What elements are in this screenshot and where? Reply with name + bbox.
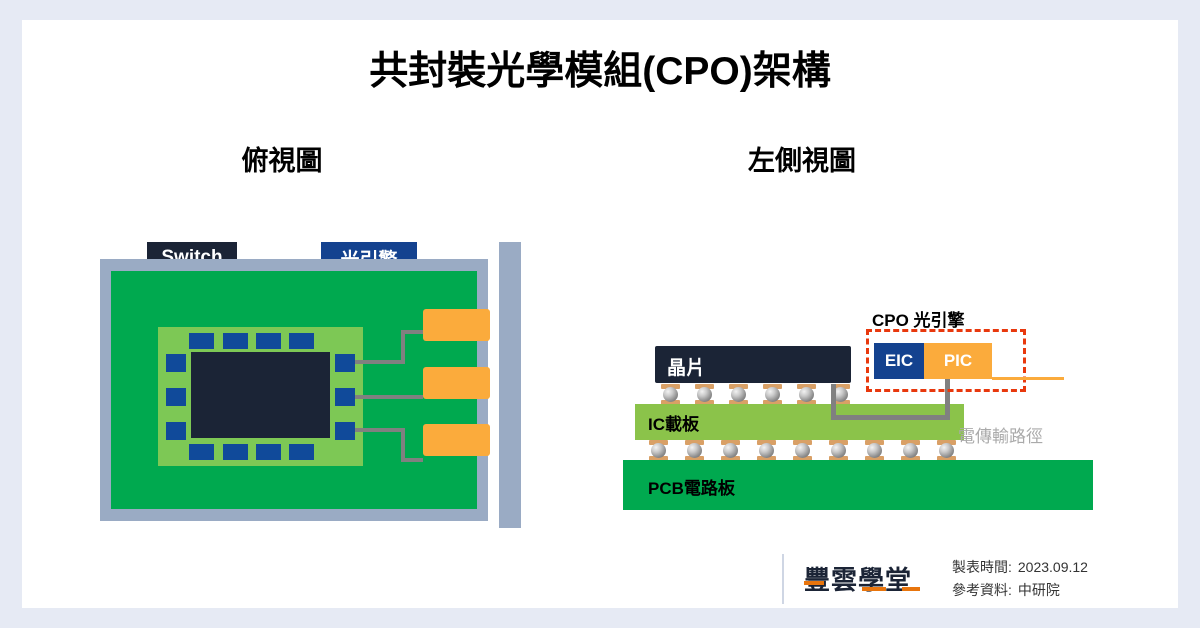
top-view-trace <box>401 428 405 462</box>
top-view-pad <box>166 354 186 372</box>
top-view-trace <box>355 395 423 399</box>
solder-ball <box>799 387 814 402</box>
meta-value-source: 中研院 <box>1018 579 1060 602</box>
solder-ball <box>731 387 746 402</box>
solder-ball <box>723 443 738 458</box>
pic-block: PIC <box>924 343 992 379</box>
logo-accent-mark <box>862 587 886 591</box>
optical-fiber-line <box>992 377 1064 380</box>
electrical-path-segment <box>831 384 836 418</box>
top-view-pad <box>335 422 355 440</box>
solder-ball <box>867 443 882 458</box>
top-view-pad <box>223 444 248 460</box>
side-view-heading: 左側視圖 <box>682 139 922 178</box>
logo-accent-mark <box>902 587 920 591</box>
top-view-trace <box>401 458 423 462</box>
side-view-chip-label: 晶片 <box>667 353 705 380</box>
pic-label: PIC <box>924 351 992 371</box>
slide-card: 共封裝光學模組(CPO)架構 俯視圖 Switch 光引擎 <box>22 20 1178 608</box>
solder-ball <box>903 443 918 458</box>
solder-ball <box>939 443 954 458</box>
meta-key-created: 製表時間: <box>952 556 1012 579</box>
solder-ball <box>831 443 846 458</box>
meta-value-created: 2023.09.12 <box>1018 556 1088 579</box>
footer-meta: 製表時間: 2023.09.12 參考資料: 中研院 <box>952 556 1088 602</box>
solder-ball <box>651 443 666 458</box>
electrical-path-segment <box>831 415 950 420</box>
top-view-trace <box>355 360 405 364</box>
solder-ball <box>765 387 780 402</box>
top-view-pad <box>289 444 314 460</box>
top-view-switch-die <box>191 352 330 438</box>
top-view-optical-connector <box>423 424 490 456</box>
top-view-pad <box>189 444 214 460</box>
top-view-pad <box>335 354 355 372</box>
logo-accent-mark <box>804 581 824 585</box>
meta-key-source: 參考資料: <box>952 579 1012 602</box>
top-view-trace <box>355 428 405 432</box>
top-view-trace <box>401 330 405 364</box>
side-view-ic-carrier: IC載板 <box>635 404 964 440</box>
meta-row-source: 參考資料: 中研院 <box>952 579 1088 602</box>
top-view-optical-connector <box>423 367 490 399</box>
top-view-pad <box>256 444 281 460</box>
eic-label: EIC <box>874 351 924 371</box>
brand-logo-text: 豐雲學堂 <box>804 565 912 595</box>
electrical-path-label: 電傳輸路徑 <box>958 422 1043 447</box>
top-view-diagram <box>78 220 518 530</box>
eic-block: EIC <box>874 343 924 379</box>
top-view-pad <box>223 333 248 349</box>
top-view-pad <box>166 388 186 406</box>
side-view-chip: 晶片 <box>655 346 851 383</box>
top-view-heading: 俯視圖 <box>162 139 402 178</box>
solder-ball <box>795 443 810 458</box>
solder-ball <box>697 387 712 402</box>
page-title: 共封裝光學模組(CPO)架構 <box>22 40 1178 96</box>
top-view-pad <box>166 422 186 440</box>
solder-ball <box>687 443 702 458</box>
top-view-trace <box>401 330 423 334</box>
top-view-optical-connector <box>423 309 490 341</box>
top-view-pad <box>189 333 214 349</box>
brand-logo: 豐雲學堂 <box>804 560 912 597</box>
side-view-pcb-label: PCB電路板 <box>648 474 735 499</box>
top-view-pad <box>256 333 281 349</box>
footer: 豐雲學堂 製表時間: 2023.09.12 參考資料: 中研院 <box>782 552 1162 608</box>
side-view-diagram: CPO 光引擎 晶片 IC載板 <box>618 300 1138 530</box>
top-view-faceplate-rail <box>499 242 521 528</box>
footer-divider <box>782 554 784 604</box>
cpo-engine-label: CPO 光引擎 <box>872 306 965 331</box>
solder-ball <box>663 387 678 402</box>
side-view-pcb: PCB電路板 <box>623 460 1093 510</box>
meta-row-created: 製表時間: 2023.09.12 <box>952 556 1088 579</box>
solder-ball <box>759 443 774 458</box>
top-view-pad <box>289 333 314 349</box>
top-view-pad <box>335 388 355 406</box>
side-view-ic-carrier-label: IC載板 <box>648 410 699 435</box>
